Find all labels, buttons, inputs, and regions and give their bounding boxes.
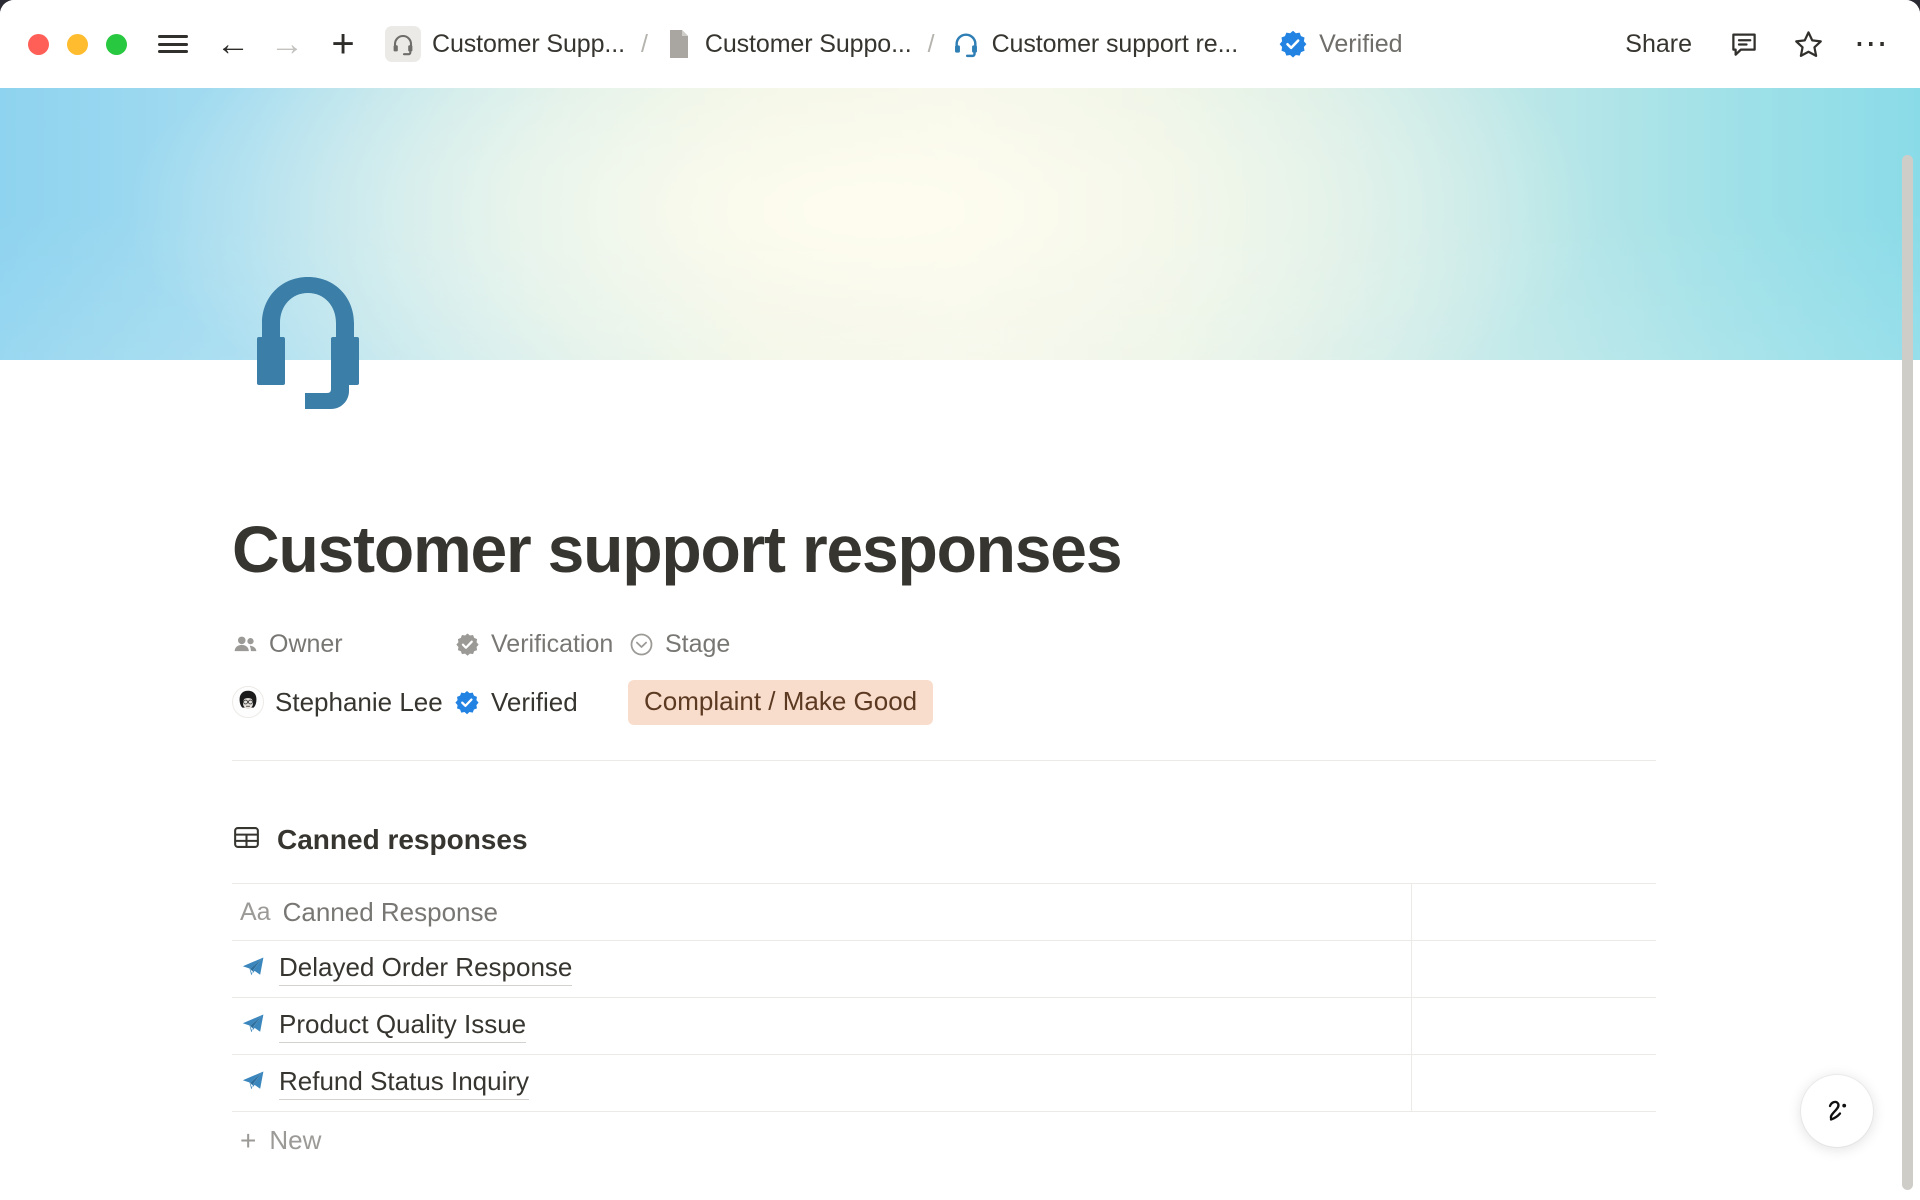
breadcrumb-item-1[interactable]: Customer Supp... [385, 26, 625, 62]
page-content: Customer support responses Owner [0, 360, 1920, 1169]
table-cell-name[interactable]: Refund Status Inquiry [232, 1055, 1412, 1111]
verified-badge-icon [454, 689, 480, 715]
page-icon-headset-icon[interactable] [249, 275, 367, 415]
property-stage-label[interactable]: Stage [628, 630, 1656, 659]
breadcrumb-item-2[interactable]: Customer Suppo... [664, 27, 912, 61]
property-labels-row: Owner Verification [232, 624, 1656, 664]
maximize-button[interactable] [106, 34, 127, 55]
app-window: ← → + Customer Supp... / [0, 0, 1920, 1200]
table-cell-secondary[interactable] [1412, 998, 1656, 1054]
status-badge: Complaint / Make Good [628, 680, 933, 725]
property-label: Verification [491, 630, 613, 659]
table-row[interactable]: Refund Status Inquiry [232, 1055, 1656, 1112]
more-horizontal-icon[interactable]: ⋯ [1846, 22, 1898, 66]
property-verification-value[interactable]: Verified [454, 687, 628, 718]
property-label: Owner [269, 630, 343, 659]
section-header-canned-responses[interactable]: Canned responses [232, 823, 1656, 857]
breadcrumb-separator: / [928, 30, 935, 59]
verified-badge-outline-icon [454, 631, 480, 657]
headset-icon [951, 27, 981, 61]
breadcrumb-label: Customer support re... [992, 30, 1239, 59]
comment-icon[interactable] [1718, 22, 1770, 66]
property-values-row: Stephanie Lee Verified Complaint / Make [232, 678, 1656, 726]
table-header-cell-secondary[interactable] [1412, 884, 1656, 940]
canned-responses-table: Aa Canned Response [232, 883, 1656, 1169]
avatar [232, 686, 264, 718]
arrow-right-icon[interactable]: → [267, 24, 307, 64]
chevron-down-circle-icon [628, 631, 654, 657]
table-row[interactable]: Delayed Order Response [232, 941, 1656, 998]
table-header-row: Aa Canned Response [232, 884, 1656, 941]
table-cell-secondary[interactable] [1412, 941, 1656, 997]
breadcrumb: Customer Supp... / Customer Suppo... / [385, 26, 1238, 62]
text-type-icon: Aa [240, 898, 271, 927]
minimize-button[interactable] [67, 34, 88, 55]
property-owner-value[interactable]: Stephanie Lee [232, 686, 454, 718]
new-row-button[interactable]: + New [232, 1112, 1656, 1169]
property-label: Stage [665, 630, 730, 659]
page-properties: Owner Verification [232, 624, 1656, 726]
row-link[interactable]: Product Quality Issue [279, 1010, 526, 1043]
property-verification-label[interactable]: Verification [454, 630, 628, 659]
ai-assistant-icon [1819, 1093, 1855, 1129]
close-button[interactable] [28, 34, 49, 55]
table-icon [232, 823, 261, 857]
table-header-cell-name[interactable]: Aa Canned Response [232, 884, 1412, 940]
row-link[interactable]: Delayed Order Response [279, 953, 572, 986]
divider [232, 760, 1656, 761]
verified-status[interactable]: Verified [1278, 29, 1402, 59]
property-owner-label[interactable]: Owner [232, 630, 454, 659]
people-icon [232, 631, 258, 657]
column-label: Canned Response [283, 897, 498, 928]
verified-badge-icon [1278, 29, 1308, 59]
titlebar: ← → + Customer Supp... / [0, 0, 1920, 88]
table-cell-name[interactable]: Product Quality Issue [232, 998, 1412, 1054]
row-link[interactable]: Refund Status Inquiry [279, 1067, 529, 1100]
paper-plane-icon [240, 1011, 266, 1042]
breadcrumb-separator: / [641, 30, 648, 59]
property-value: Verified [491, 687, 578, 718]
plus-icon: + [240, 1127, 256, 1155]
property-stage-value[interactable]: Complaint / Make Good [628, 680, 1656, 725]
headset-icon [385, 26, 421, 62]
vertical-scrollbar[interactable] [1902, 155, 1913, 1190]
verified-label: Verified [1319, 30, 1402, 59]
property-value: Stephanie Lee [275, 687, 443, 718]
ai-assistant-button[interactable] [1801, 1075, 1873, 1147]
paper-plane-icon [240, 954, 266, 985]
table-cell-name[interactable]: Delayed Order Response [232, 941, 1412, 997]
document-icon [664, 27, 694, 61]
new-row-label: New [269, 1125, 321, 1156]
window-controls [28, 34, 127, 55]
breadcrumb-item-3[interactable]: Customer support re... [951, 27, 1239, 61]
page-title[interactable]: Customer support responses [232, 515, 1656, 584]
breadcrumb-label: Customer Suppo... [705, 30, 912, 59]
titlebar-actions: Share ⋯ [1611, 22, 1898, 67]
table-cell-secondary[interactable] [1412, 1055, 1656, 1111]
plus-icon[interactable]: + [323, 24, 363, 64]
arrow-left-icon[interactable]: ← [213, 24, 253, 64]
table-row[interactable]: Product Quality Issue [232, 998, 1656, 1055]
paper-plane-icon [240, 1068, 266, 1099]
hamburger-icon[interactable] [153, 24, 193, 64]
share-button[interactable]: Share [1611, 22, 1706, 67]
section-title: Canned responses [277, 824, 528, 856]
star-icon[interactable] [1782, 22, 1834, 66]
breadcrumb-label: Customer Supp... [432, 30, 625, 59]
